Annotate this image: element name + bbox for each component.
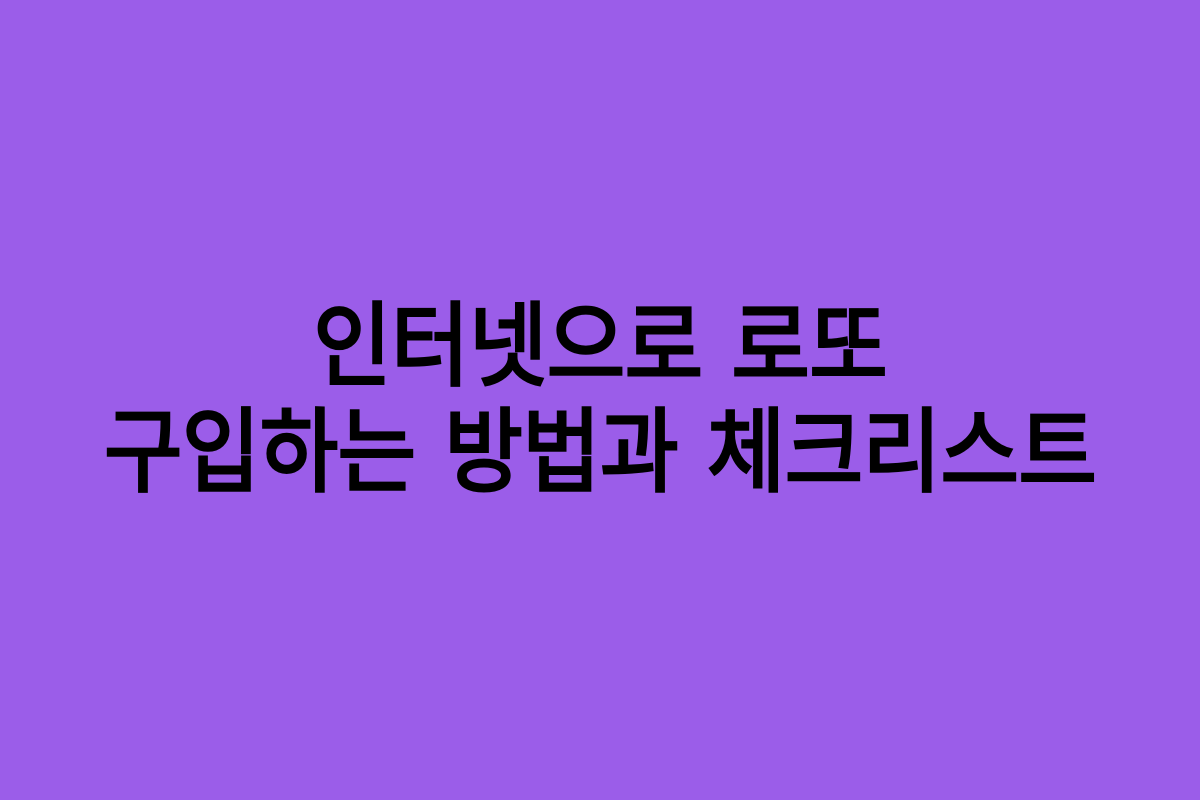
title-card: 인터넷으로 로또 구입하는 방법과 체크리스트 [0, 0, 1200, 800]
headline-block: 인터넷으로 로또 구입하는 방법과 체크리스트 [0, 301, 1200, 499]
headline-line-1: 인터넷으로 로또 [51, 301, 1148, 393]
headline-line-2: 구입하는 방법과 체크리스트 [51, 407, 1148, 499]
